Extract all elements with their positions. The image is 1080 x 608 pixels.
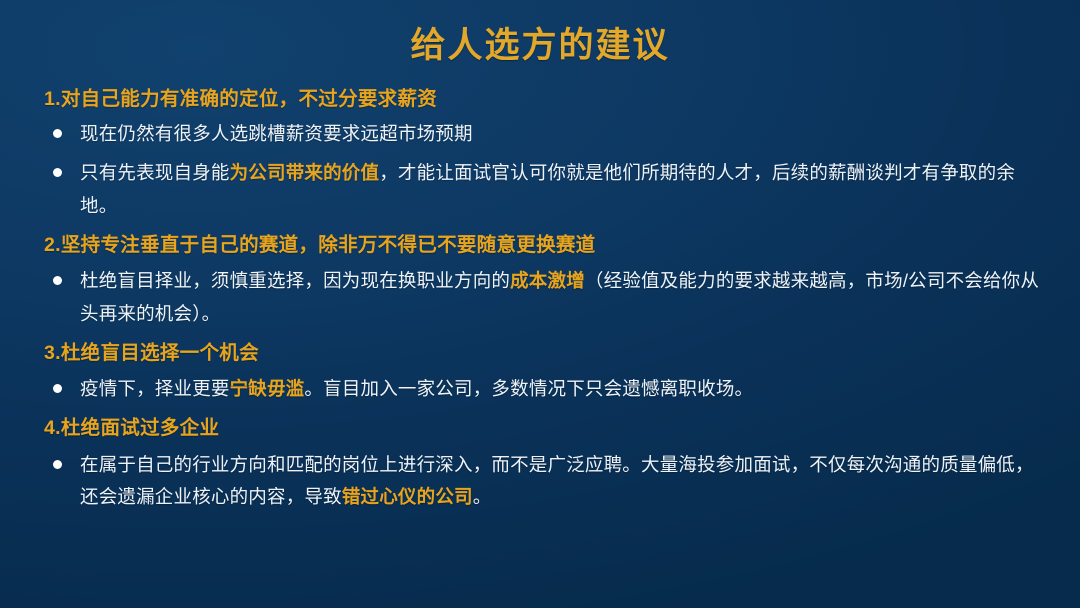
slide-content: 1.对自己能力有准确的定位，不过分要求薪资 现在仍然有很多人选跳槽薪资要求远超市… — [0, 85, 1080, 514]
list-item: 杜绝盲目择业，须慎重选择，因为现在换职业方向的成本激增（经验值及能力的要求越来越… — [44, 265, 1046, 331]
bullet-dot-icon — [53, 460, 62, 469]
list-item: 现在仍然有很多人选跳槽薪资要求远超市场预期 — [44, 118, 1046, 151]
section-4: 4.杜绝面试过多企业 在属于自己的行业方向和匹配的岗位上进行深入，而不是广泛应聘… — [44, 414, 1046, 514]
text-run: 杜绝盲目择业，须慎重选择，因为现在换职业方向的 — [80, 270, 510, 291]
section-4-heading: 4.杜绝面试过多企业 — [44, 414, 1046, 443]
section-2-bullet-1-text: 杜绝盲目择业，须慎重选择，因为现在换职业方向的成本激增（经验值及能力的要求越来越… — [80, 265, 1046, 331]
section-1: 1.对自己能力有准确的定位，不过分要求薪资 现在仍然有很多人选跳槽薪资要求远超市… — [44, 85, 1046, 223]
highlighted-text-run: 宁缺毋滥 — [230, 378, 305, 399]
bullet-dot-icon — [53, 129, 62, 138]
bullet-dot-icon — [53, 276, 62, 285]
text-run: 。 — [473, 486, 492, 507]
text-run: 在属于自己的行业方向和匹配的岗位上进行深入，而不是广泛应聘。大量海投参加面试，不… — [80, 454, 1034, 508]
section-3: 3.杜绝盲目选择一个机会 疫情下，择业更要宁缺毋滥。盲目加入一家公司，多数情况下… — [44, 339, 1046, 406]
highlighted-text-run: 成本激增 — [510, 270, 585, 291]
list-item: 疫情下，择业更要宁缺毋滥。盲目加入一家公司，多数情况下只会遗憾离职收场。 — [44, 373, 1046, 406]
section-3-heading: 3.杜绝盲目选择一个机会 — [44, 339, 1046, 368]
section-1-bullet-1-text: 现在仍然有很多人选跳槽薪资要求远超市场预期 — [80, 118, 1046, 151]
page-title: 给人选方的建议 — [0, 0, 1080, 63]
text-run: 。盲目加入一家公司，多数情况下只会遗憾离职收场。 — [304, 378, 753, 399]
bullet-dot-icon — [53, 384, 62, 393]
list-item: 只有先表现自身能为公司带来的价值，才能让面试官认可你就是他们所期待的人才，后续的… — [44, 157, 1046, 223]
section-4-bullet-1-text: 在属于自己的行业方向和匹配的岗位上进行深入，而不是广泛应聘。大量海投参加面试，不… — [80, 449, 1046, 515]
section-2-heading: 2.坚持专注垂直于自己的赛道，除非万不得已不要随意更换赛道 — [44, 231, 1046, 260]
presentation-slide: 给人选方的建议 1.对自己能力有准确的定位，不过分要求薪资 现在仍然有很多人选跳… — [0, 0, 1080, 608]
text-run: 现在仍然有很多人选跳槽薪资要求远超市场预期 — [80, 123, 473, 144]
section-2: 2.坚持专注垂直于自己的赛道，除非万不得已不要随意更换赛道 杜绝盲目择业，须慎重… — [44, 231, 1046, 331]
list-item: 在属于自己的行业方向和匹配的岗位上进行深入，而不是广泛应聘。大量海投参加面试，不… — [44, 449, 1046, 515]
section-1-bullet-2-text: 只有先表现自身能为公司带来的价值，才能让面试官认可你就是他们所期待的人才，后续的… — [80, 157, 1046, 223]
section-3-bullet-1-text: 疫情下，择业更要宁缺毋滥。盲目加入一家公司，多数情况下只会遗憾离职收场。 — [80, 373, 1046, 406]
text-run: 疫情下，择业更要 — [80, 378, 230, 399]
section-1-heading: 1.对自己能力有准确的定位，不过分要求薪资 — [44, 85, 1046, 114]
bullet-dot-icon — [53, 168, 62, 177]
text-run: 只有先表现自身能 — [80, 162, 230, 183]
highlighted-text-run: 为公司带来的价值 — [230, 162, 380, 183]
highlighted-text-run: 错过心仪的公司 — [342, 486, 473, 507]
